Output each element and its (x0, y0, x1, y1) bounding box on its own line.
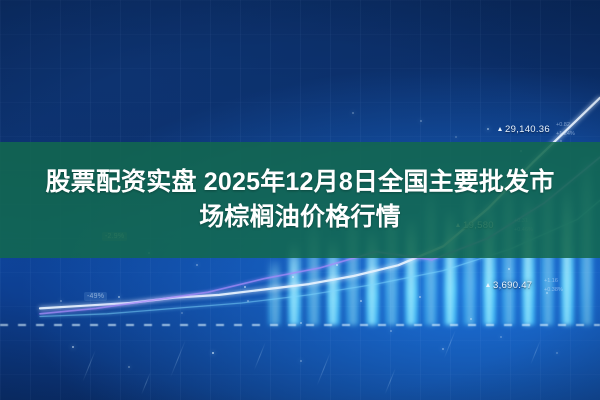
page-title: 股票配资实盘 2025年12月8日全国主要批发市场棕榈油价格行情 (40, 165, 560, 236)
banner-image: 29,140.36+0.82+1.24%19,580+0.31+0.46%3,6… (0, 0, 600, 400)
title-band: 股票配资实盘 2025年12月8日全国主要批发市场棕榈油价格行情 (0, 142, 600, 258)
